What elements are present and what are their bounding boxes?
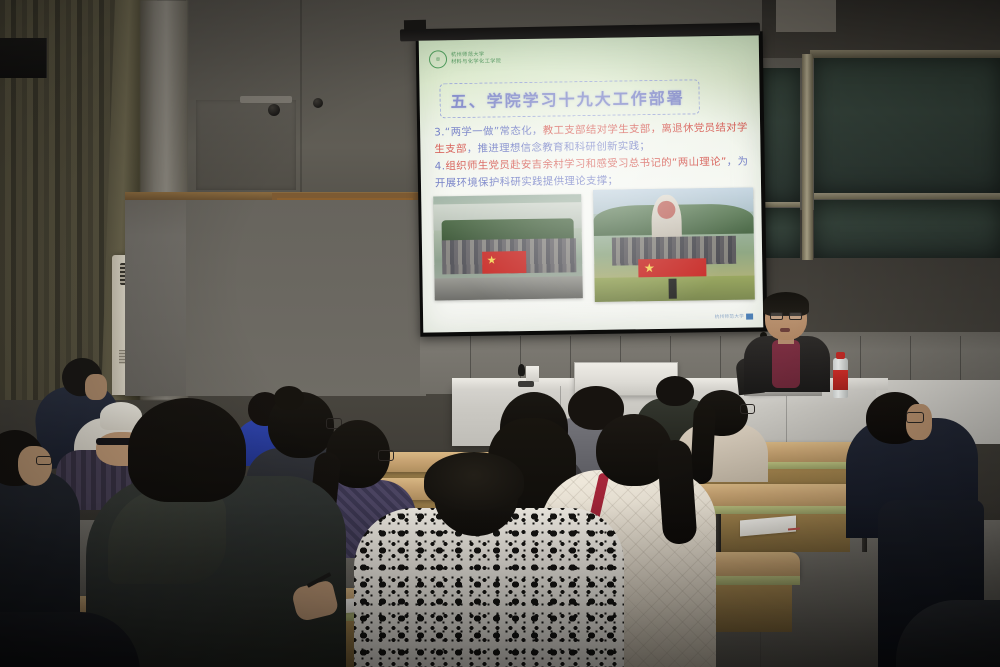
logo-text: 杭州师范大学 材料与化学化工学院 — [451, 51, 502, 66]
hair-ponytail — [690, 403, 716, 484]
slide-title: 五、学院学习十九大工作部署 — [450, 85, 684, 113]
logo-line-2: 材料与化学化工学院 — [451, 58, 501, 66]
photo-ground — [434, 276, 582, 300]
projector-screen-bracket — [404, 20, 426, 30]
wall-patch — [196, 100, 296, 190]
wall-speaker-icon — [0, 38, 47, 78]
slide-text-segment: 4. — [435, 160, 446, 172]
slide-photo-village — [433, 194, 583, 300]
projected-slide: ◎ 杭州师范大学 材料与化学化工学院 五、学院学习十九大工作部署 3.“两学一做… — [419, 35, 764, 332]
party-flag-icon — [482, 251, 526, 274]
chalkboard-panel — [814, 200, 1000, 258]
presenter-glasses-bridge — [783, 315, 789, 316]
audience-head — [128, 398, 246, 502]
chalkboard-divider-post — [802, 54, 813, 260]
slide-photo-group — [433, 187, 755, 304]
wall-fixture — [240, 96, 292, 103]
desk-cup-stack — [526, 366, 539, 382]
presenter-glasses-icon — [789, 312, 802, 320]
wall-knob-icon — [268, 104, 280, 116]
chalkboard-panel — [814, 58, 1000, 193]
slide-text-segment: 教工支部结对学生支部，离退休党员结对学 — [543, 122, 748, 137]
audience-glasses-icon — [378, 450, 394, 461]
audience-face — [85, 374, 107, 400]
audience-head — [656, 376, 694, 406]
slide-text-segment: 生支部 — [434, 143, 467, 156]
chalkboard-chalk-rail — [762, 202, 800, 207]
slide-text-segment: ，为 — [727, 156, 749, 168]
slide-photo-monument — [593, 187, 755, 301]
presenter-shirt — [772, 340, 800, 388]
left-stage-wall — [186, 200, 426, 396]
slide-watermark-text: 杭州师范大学 — [715, 314, 744, 320]
chalkboard-panel — [762, 208, 800, 258]
lecture-hall-photo: ◎ 杭州师范大学 材料与化学化工学院 五、学院学习十九大工作部署 3.“两学一做… — [0, 0, 1000, 667]
hair-long — [656, 439, 697, 545]
desk-microphone-icon — [518, 364, 525, 376]
logo-badge-icon: ◎ — [429, 50, 447, 68]
slide-institution-logo: ◎ 杭州师范大学 材料与化学化工学院 — [429, 49, 502, 68]
chalkboard-chalk-rail — [814, 193, 1000, 199]
wall-seam — [300, 0, 302, 200]
presenter-mouth — [780, 328, 790, 332]
hair-bun — [274, 386, 304, 410]
slide-body-text: 3.“两学一做”常态化，教工支部结对学生支部，离退休党员结对学 生支部，推进理想… — [434, 119, 751, 192]
slide-watermark: 杭州师范大学 — [715, 313, 753, 320]
audience-glasses-icon — [906, 412, 924, 423]
slide-text-segment: ，推进理想信念教育和科研创新实践； — [467, 140, 651, 155]
chalkboard-assembly — [762, 58, 1000, 258]
curly-hair — [424, 452, 524, 510]
presenter-glasses-icon — [770, 312, 783, 320]
slide-text-segment: 开展环境保护科研实践提供理论支撑； — [435, 175, 619, 190]
photo-post — [668, 279, 676, 299]
water-bottle-cap — [836, 352, 845, 359]
audience-glasses-icon — [740, 404, 755, 414]
desk-small-object — [518, 381, 534, 387]
audience-glasses-icon — [36, 456, 52, 465]
wall-slab — [776, 0, 836, 32]
slide-text-segment: 3.“两学一做”常态化， — [434, 125, 543, 139]
wall-knob-icon — [313, 98, 323, 108]
slide-watermark-mark-icon — [746, 313, 753, 319]
audience-face — [18, 446, 52, 486]
slide-title-box: 五、学院学习十九大工作部署 — [439, 79, 700, 118]
logo-badge-glyph: ◎ — [436, 56, 440, 62]
chalkboard-panel — [762, 68, 800, 202]
slide-text-segment: 组织师生党员赴安吉余村学习和感受习总书记的“两山理论” — [445, 156, 726, 172]
water-bottle-label — [833, 370, 848, 390]
